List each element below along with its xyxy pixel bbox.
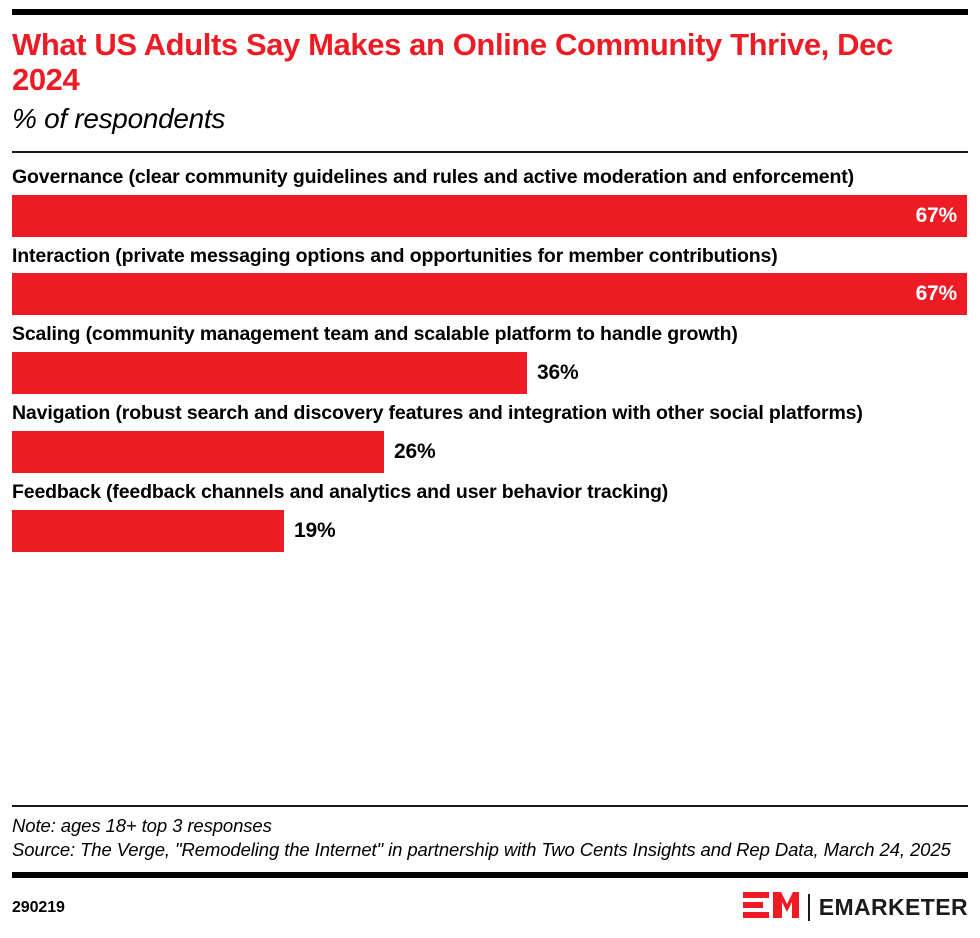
bar-row: 26%	[12, 431, 968, 473]
bar-row: 19%	[12, 510, 968, 552]
bar-category-label: Interaction (private messaging options a…	[12, 245, 964, 269]
logo-divider	[808, 894, 810, 921]
bar-chart: Governance (clear community guidelines a…	[12, 166, 968, 552]
bar-row: 67%	[12, 273, 968, 315]
top-rule	[12, 9, 968, 15]
bar-category-label: Feedback (feedback channels and analytic…	[12, 481, 964, 505]
emarketer-logo[interactable]: EMARKETER	[743, 890, 968, 925]
bar-value-label: 19%	[284, 519, 335, 543]
bar-category-label: Governance (clear community guidelines a…	[12, 166, 964, 190]
bar[interactable]	[12, 431, 384, 473]
brand-name: EMARKETER	[819, 894, 968, 921]
bar-value-label: 67%	[916, 282, 967, 306]
note-text: Note: ages 18+ top 3 responses	[12, 814, 968, 839]
bar[interactable]	[12, 510, 284, 552]
bar-value-label: 26%	[384, 440, 435, 464]
page-subtitle: % of respondents	[12, 104, 968, 135]
bar-group: Interaction (private messaging options a…	[12, 245, 968, 316]
page-title: What US Adults Say Makes an Online Commu…	[12, 27, 942, 97]
bar-row: 67%	[12, 195, 968, 237]
header-divider-wrap	[12, 151, 968, 153]
bar-group: Feedback (feedback channels and analytic…	[12, 481, 968, 552]
bar-value-label: 67%	[916, 204, 967, 228]
bar-row: 36%	[12, 352, 968, 394]
bar-group: Navigation (robust search and discovery …	[12, 402, 968, 473]
bar-category-label: Navigation (robust search and discovery …	[12, 402, 964, 426]
chart-page: What US Adults Say Makes an Online Commu…	[0, 9, 980, 938]
bar[interactable]	[12, 352, 527, 394]
bar[interactable]: 67%	[12, 273, 967, 315]
bar-group: Scaling (community management team and s…	[12, 323, 968, 394]
chart-footer: Note: ages 18+ top 3 responses Source: T…	[12, 805, 968, 938]
source-text: Source: The Verge, "Remodeling the Inter…	[12, 838, 968, 863]
bar-value-label: 36%	[527, 361, 578, 385]
em-logo-icon	[743, 890, 799, 925]
header-divider	[12, 151, 968, 153]
bar[interactable]: 67%	[12, 195, 967, 237]
bar-group: Governance (clear community guidelines a…	[12, 166, 968, 237]
footnotes: Note: ages 18+ top 3 responses Source: T…	[12, 807, 968, 872]
footer-bottom-row: 290219 EMARKETER	[12, 878, 968, 938]
chart-id: 290219	[12, 899, 65, 917]
bar-category-label: Scaling (community management team and s…	[12, 323, 964, 347]
